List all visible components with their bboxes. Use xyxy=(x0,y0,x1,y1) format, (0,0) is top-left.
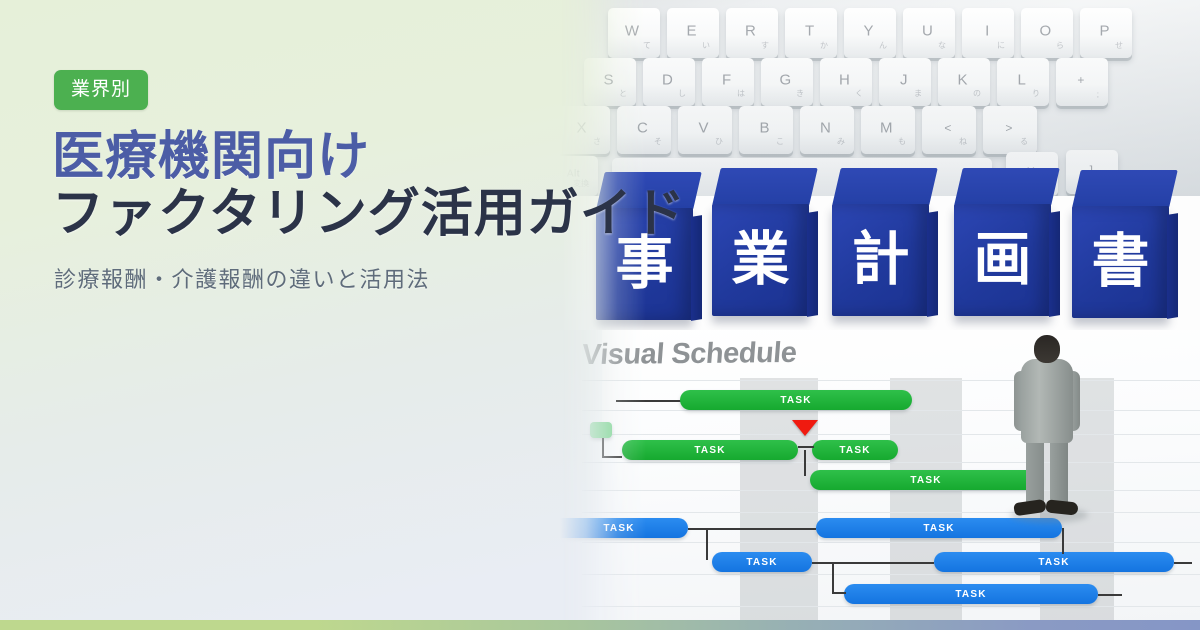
cube-block-5: 書 xyxy=(1072,170,1169,318)
visual-schedule-heading: Visual Schedule xyxy=(581,337,798,372)
cube-side-face xyxy=(807,211,818,317)
key-kana: ら xyxy=(1056,40,1064,51)
dependency-line xyxy=(804,450,806,476)
key-h: Hく xyxy=(820,58,872,106)
task-bar-label: TASK xyxy=(746,557,777,568)
figurine-head xyxy=(1034,335,1060,363)
dependency-line xyxy=(616,400,682,402)
weekend-shade-column xyxy=(740,378,818,622)
task-bar: TASK xyxy=(680,390,912,410)
key-latin: > xyxy=(1005,121,1013,135)
dependency-line xyxy=(1174,562,1192,564)
cube-block-4: 画 xyxy=(954,168,1051,316)
category-badge: 業界別 xyxy=(54,70,148,110)
figurine-torso xyxy=(1021,359,1073,443)
cube-character: 画 xyxy=(954,204,1051,316)
key-e: Eい xyxy=(667,8,719,58)
task-bar-label: TASK xyxy=(839,445,870,456)
key-r: Rす xyxy=(726,8,778,58)
key-kana: ね xyxy=(959,136,967,147)
key-f: Fは xyxy=(702,58,754,106)
task-bar: TASK xyxy=(712,552,812,572)
key-latin: B xyxy=(759,120,770,137)
grid-line xyxy=(582,606,1200,607)
cube-character: 計 xyxy=(832,204,929,316)
dependency-line xyxy=(1062,528,1064,554)
key-latin: L xyxy=(1018,72,1027,89)
grid-line xyxy=(582,490,1200,491)
cube-top-face xyxy=(832,168,938,206)
cube-side-face xyxy=(1049,211,1060,317)
key-latin: W xyxy=(625,23,640,40)
page-title: 医療機関向け ファクタリング活用ガイド xyxy=(52,129,732,244)
key-kana: い xyxy=(702,40,710,51)
key-n: Nみ xyxy=(800,106,854,154)
bottom-accent-bar xyxy=(0,620,1200,630)
key-latin: N xyxy=(820,120,831,137)
key-d: Dし xyxy=(643,58,695,106)
key-y: Yん xyxy=(844,8,896,58)
cube-side-face xyxy=(1167,213,1178,319)
key-kana: す xyxy=(761,40,769,51)
key-kana: り xyxy=(1032,88,1040,99)
key-g: Gき xyxy=(761,58,813,106)
task-bar-label: TASK xyxy=(923,523,954,534)
task-bar-label: TASK xyxy=(603,523,634,534)
key-latin: < xyxy=(944,121,952,135)
businessman-figurine xyxy=(1000,335,1092,525)
cube-character: 書 xyxy=(1072,206,1169,318)
key-i: Iに xyxy=(962,8,1014,58)
key-w: Wて xyxy=(608,8,660,58)
dependency-line xyxy=(832,562,846,594)
key-comma: <ね xyxy=(922,106,976,154)
key-kana: に xyxy=(997,40,1005,51)
task-bar-label: TASK xyxy=(1038,557,1069,568)
key-kana: き xyxy=(796,88,804,99)
hero-text-panel: 業界別 医療機関向け ファクタリング活用ガイド 診療報酬・介護報酬の違いと活用法 xyxy=(0,0,600,630)
keyboard-row-1: Wて Eい Rす Tか Yん Uな Iに Oら Pせ xyxy=(608,8,1132,58)
dependency-line xyxy=(1098,594,1122,596)
key-kana: せ xyxy=(1115,40,1123,51)
key-p: Pせ xyxy=(1080,8,1132,58)
page-subtitle: 診療報酬・介護報酬の違いと活用法 xyxy=(54,262,430,294)
today-marker-icon xyxy=(792,420,818,436)
key-o: Oら xyxy=(1021,8,1073,58)
key-latin: O xyxy=(1039,23,1051,40)
cube-top-face xyxy=(1072,170,1178,208)
cube-top-face xyxy=(954,168,1060,206)
key-latin: T xyxy=(805,23,815,40)
key-kana: く xyxy=(855,88,863,99)
key-u: Uな xyxy=(903,8,955,58)
key-l: Lり xyxy=(997,58,1049,106)
grid-line xyxy=(582,512,1200,513)
task-bar-label: TASK xyxy=(955,589,986,600)
key-kana: ま xyxy=(914,88,922,99)
cube-side-face xyxy=(927,211,938,317)
photo-inner: Wて Eい Rす Tか Yん Uな Iに Oら Pせ Sと Dし Fは Gき H… xyxy=(560,0,1200,622)
grid-line xyxy=(582,574,1200,575)
key-latin: I xyxy=(985,23,990,40)
key-kana: の xyxy=(973,88,981,99)
task-bar: TASK xyxy=(844,584,1098,604)
heading-text: Visual Schedule xyxy=(581,337,798,371)
key-latin: F xyxy=(722,72,732,89)
key-kana: と xyxy=(619,88,627,99)
figurine-left-leg xyxy=(1026,439,1044,505)
figurine-right-leg xyxy=(1050,439,1068,505)
key-kana: る xyxy=(1020,136,1028,147)
key-latin: + xyxy=(1077,73,1085,87)
title-line-1: 医療機関向け xyxy=(52,129,732,185)
key-latin: U xyxy=(922,23,933,40)
key-latin: R xyxy=(745,23,756,40)
hero-banner: Wて Eい Rす Tか Yん Uな Iに Oら Pせ Sと Dし Fは Gき H… xyxy=(0,0,1200,630)
key-kana: ん xyxy=(879,40,887,51)
key-plus-semicolon: +; xyxy=(1056,58,1108,106)
task-bar-label: TASK xyxy=(780,395,811,406)
key-k: Kの xyxy=(938,58,990,106)
key-latin: J xyxy=(900,72,908,89)
key-kana: こ xyxy=(776,136,784,147)
key-kana: も xyxy=(898,136,906,147)
grid-line xyxy=(582,434,1200,435)
key-kana: な xyxy=(938,40,946,51)
key-latin: G xyxy=(779,72,791,89)
key-kana: て xyxy=(643,40,651,51)
grid-line xyxy=(582,462,1200,463)
key-latin: E xyxy=(686,23,697,40)
key-m: Mも xyxy=(861,106,915,154)
key-b: Bこ xyxy=(739,106,793,154)
title-line-2: ファクタリング活用ガイド xyxy=(52,185,732,244)
visual-schedule-sheet: Visual Schedule TASK TASK TASK xyxy=(560,330,1200,622)
key-latin: P xyxy=(1099,23,1110,40)
key-latin: S xyxy=(603,72,614,89)
key-latin: H xyxy=(839,72,850,89)
task-bar-label: TASK xyxy=(910,475,941,486)
hero-photo: Wて Eい Rす Tか Yん Uな Iに Oら Pせ Sと Dし Fは Gき H… xyxy=(560,0,1200,622)
key-kana: み xyxy=(837,136,845,147)
key-kana: し xyxy=(678,88,686,99)
key-kana: ; xyxy=(1097,90,1099,99)
key-j: Jま xyxy=(879,58,931,106)
dependency-line xyxy=(812,562,934,564)
grid-line xyxy=(582,542,1200,543)
key-latin: K xyxy=(957,72,968,89)
key-latin: Y xyxy=(863,23,874,40)
cube-block-3: 計 xyxy=(832,168,929,316)
key-kana: か xyxy=(820,40,828,51)
task-bar: TASK xyxy=(812,440,898,460)
key-latin: D xyxy=(662,72,673,89)
key-t: Tか xyxy=(785,8,837,58)
task-bar: TASK xyxy=(934,552,1174,572)
key-kana: は xyxy=(737,88,745,99)
keyboard-row-2: Sと Dし Fは Gき Hく Jま Kの Lり +; xyxy=(584,58,1108,106)
key-period: >る xyxy=(983,106,1037,154)
dependency-line xyxy=(706,528,708,560)
dependency-line xyxy=(798,446,814,448)
key-latin: M xyxy=(880,120,893,137)
task-bar-label: TASK xyxy=(694,445,725,456)
task-bar: TASK xyxy=(622,440,798,460)
grid-line xyxy=(582,380,1200,381)
grid-line xyxy=(582,410,1200,411)
